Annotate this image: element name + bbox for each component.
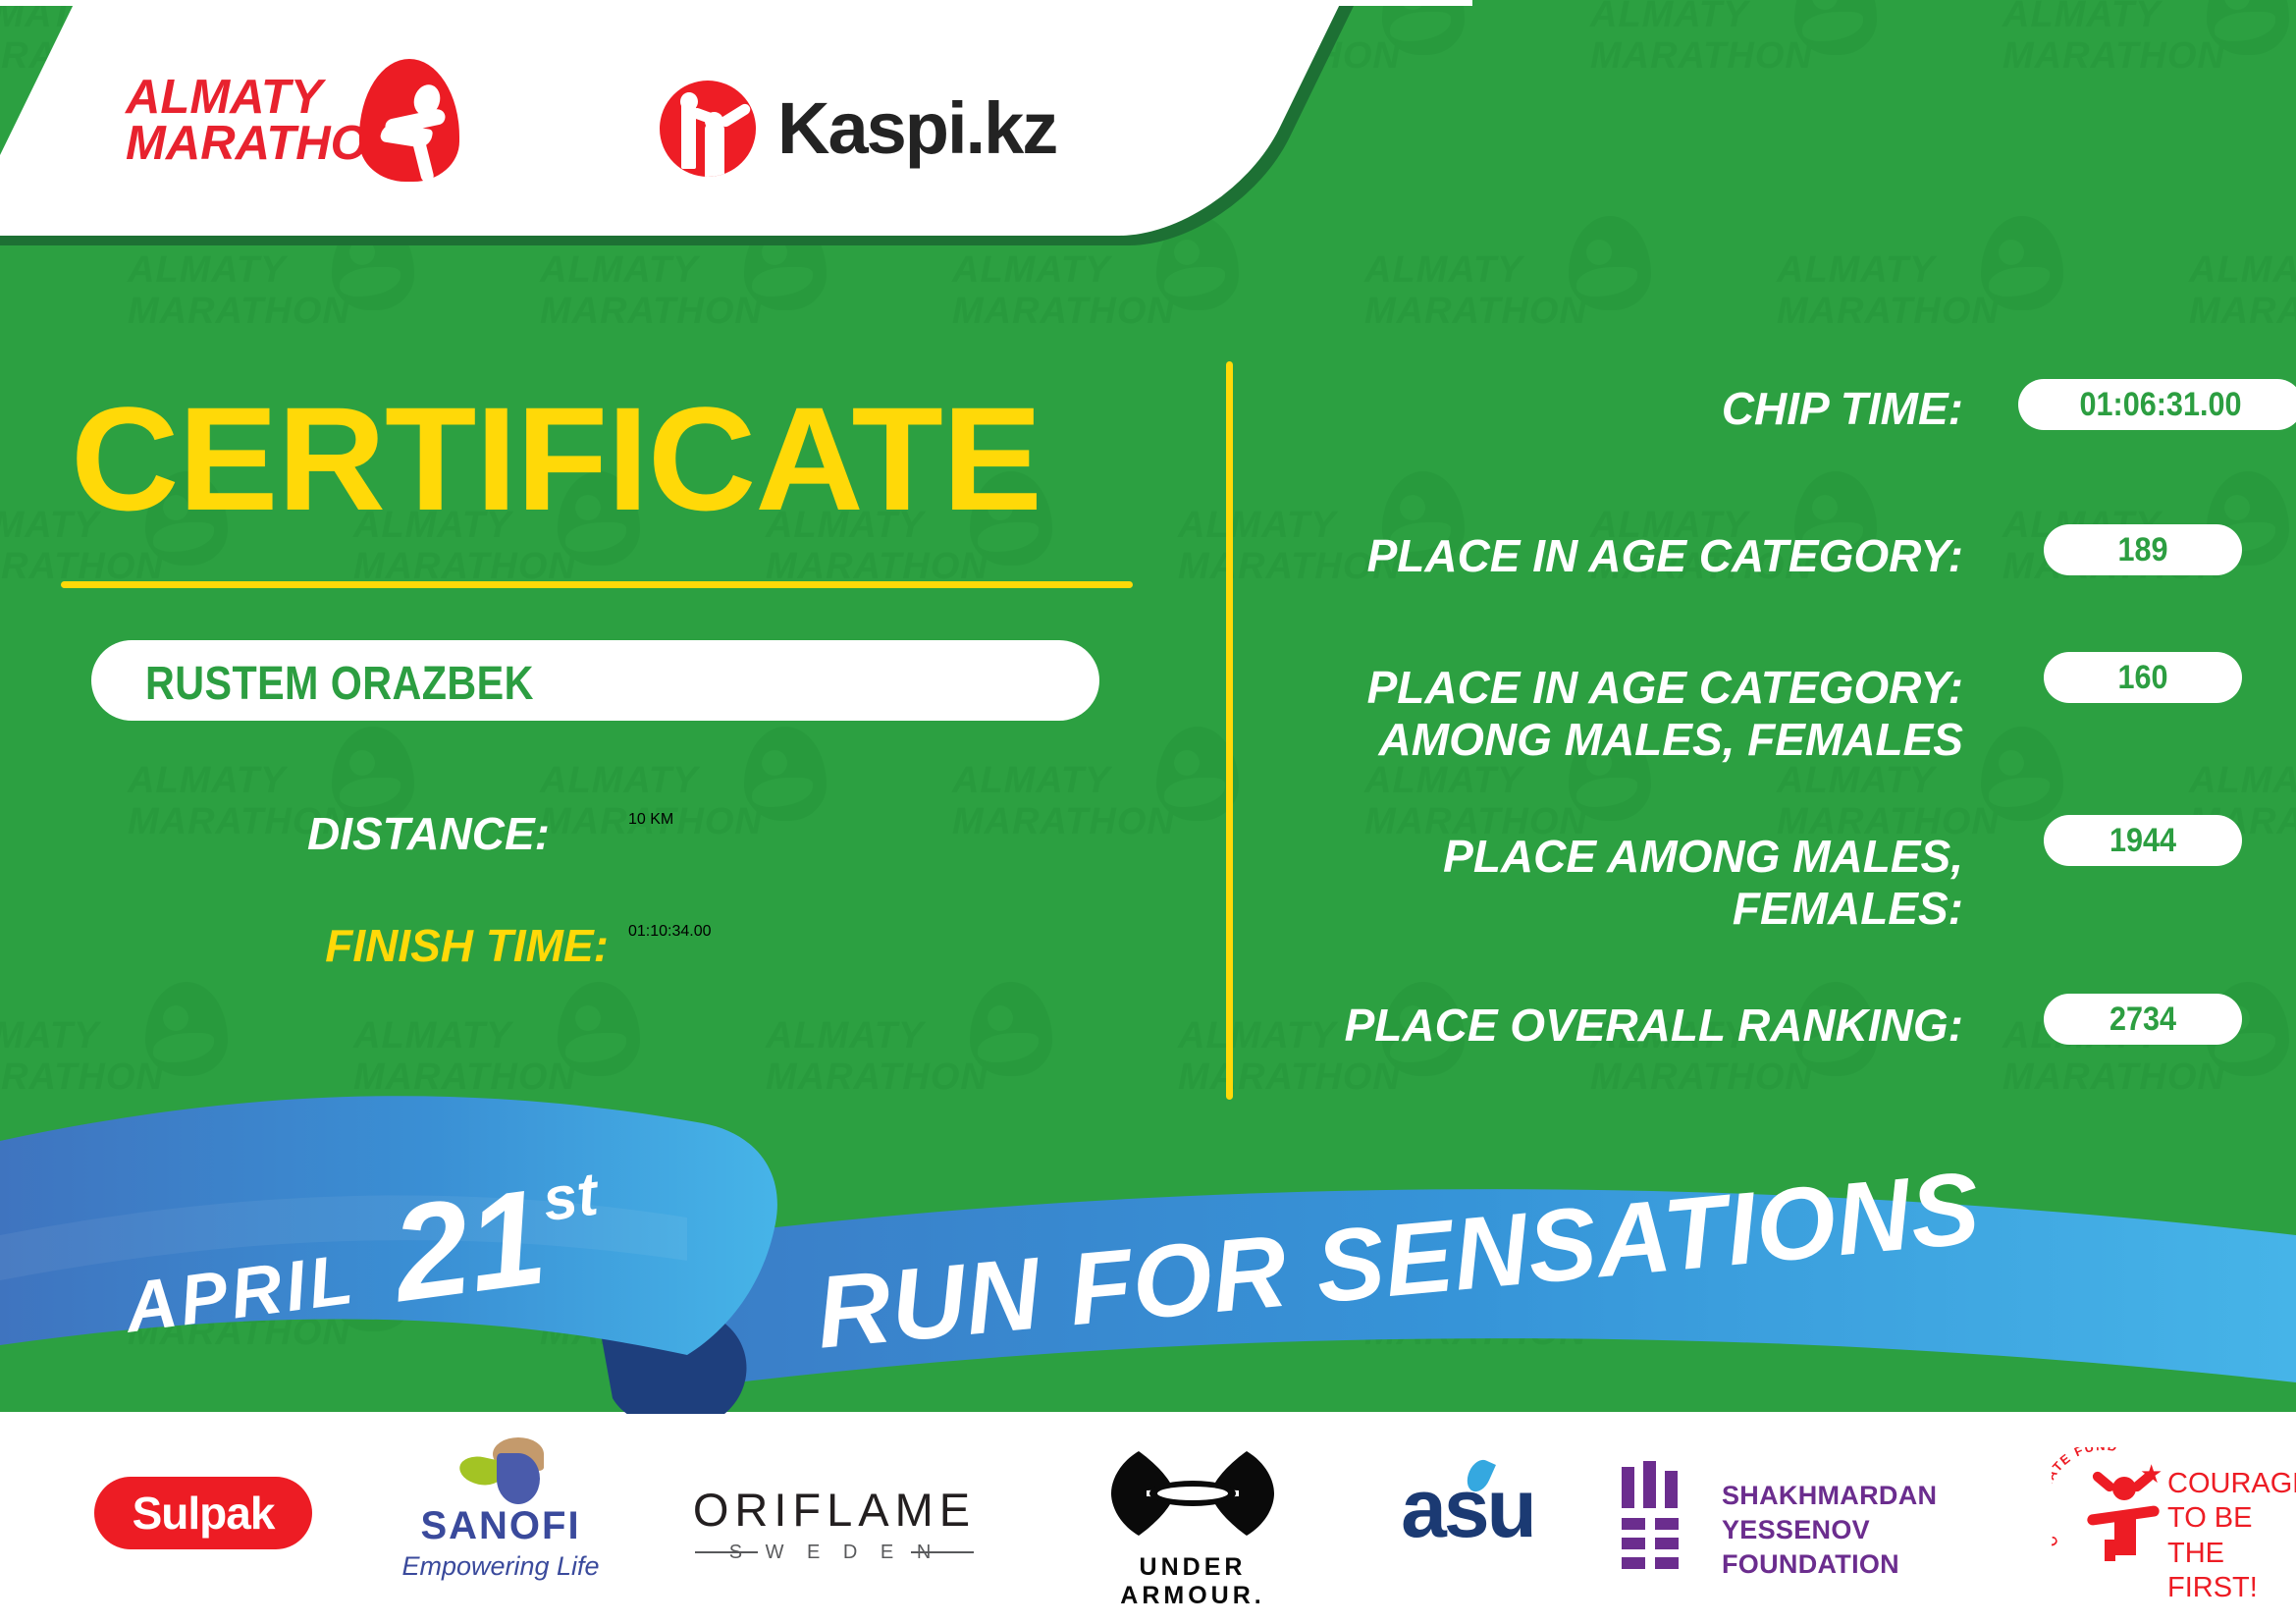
title-underline <box>61 581 1133 588</box>
stat-label: PLACE AMONG MALES,FEMALES: <box>1276 831 1963 936</box>
stat-label: PLACE OVERALL RANKING: <box>1276 1000 1963 1052</box>
sponsors-bar: Sulpak SANOFI Empowering Life ORIFLAME S… <box>0 1414 2296 1624</box>
distance-value: 10 KM <box>628 811 673 828</box>
stat-value-pill: 01:06:31.00 <box>2018 379 2296 430</box>
distance-label: DISTANCE: <box>307 807 550 860</box>
sponsor-oriflame: ORIFLAME S W E D E N <box>687 1414 982 1624</box>
stat-value: 189 <box>2054 524 2232 575</box>
finish-time-value: 01:10:34.00 <box>628 923 712 940</box>
finish-time-label: FINISH TIME: <box>325 919 609 972</box>
watermark-tile: ALMATYMARATHON <box>2189 216 2296 363</box>
stat-label: PLACE IN AGE CATEGORY:AMONG MALES, FEMAL… <box>1276 662 1963 767</box>
certificate-page: ALMATYMARATHONALMATYMARATHONALMATYMARATH… <box>0 0 2296 1624</box>
marathon-runner-drop-icon <box>359 59 459 182</box>
page-title: CERTIFICATE <box>71 385 1041 532</box>
header-content: ALMATY MARATHON Kaspi.kz <box>0 0 1276 275</box>
sanofi-bird-icon <box>454 1437 544 1498</box>
sponsor-yessenov-foundation: SHAKHMARDAN YESSENOVFOUNDATION <box>1620 1414 2032 1624</box>
distance-row: DISTANCE: <box>0 807 550 866</box>
stat-value: 1944 <box>2054 815 2232 866</box>
kaspi-wordmark: Kaspi.kz <box>777 86 1056 170</box>
almaty-marathon-line2: MARATHON <box>126 121 391 167</box>
finish-time-row: FINISH TIME: <box>0 919 609 978</box>
stat-value-pill: 189 <box>2044 524 2242 575</box>
yessenov-wordmark: SHAKHMARDAN YESSENOVFOUNDATION <box>1722 1479 2026 1582</box>
stat-value: 01:06:31.00 <box>2033 379 2289 430</box>
courage-tagline: COURAGETO BETHE FIRST! <box>2167 1467 2296 1606</box>
vertical-divider <box>1226 361 1233 1100</box>
oriflame-rule-right <box>911 1551 974 1553</box>
almaty-marathon-logo: ALMATY MARATHON <box>126 59 450 191</box>
sulpak-logo: Sulpak <box>94 1477 312 1549</box>
watermark-tile: ALMATYMARATHON <box>1364 216 1659 363</box>
almaty-marathon-wordmark: ALMATY MARATHON <box>126 75 391 166</box>
sponsor-under-armour: UNDER ARMOUR. <box>1080 1414 1306 1624</box>
stat-value-pill: 2734 <box>2044 994 2242 1045</box>
sanofi-wordmark: SANOFI <box>383 1504 618 1548</box>
watermark-tile: ALMATYMARATHON <box>2002 0 2296 108</box>
kaspi-people-circle-icon <box>660 81 756 177</box>
sponsor-asu: asu <box>1364 1414 1571 1624</box>
distance-value-pill: 10 KM <box>628 811 907 870</box>
stat-value-pill: 160 <box>2044 652 2242 703</box>
stats-panel: CHIP TIME:01:06:31.00PLACE IN AGE CATEGO… <box>1276 361 2218 1108</box>
watermark-tile: ALMATYMARATHON <box>1777 216 2071 363</box>
watermark-tile: ALMATYMARATHON <box>1590 0 1885 108</box>
kaspi-logo: Kaspi.kz <box>660 81 1072 179</box>
sanofi-tagline: Empowering Life <box>383 1551 618 1582</box>
sponsor-courage-fund: CORPORATE FUND ★ COURAGETO BETHE FIRST! <box>2057 1414 2293 1624</box>
sulpak-wordmark: Sulpak <box>94 1477 312 1549</box>
stat-value: 2734 <box>2054 994 2232 1045</box>
under-armour-wordmark: UNDER ARMOUR. <box>1080 1553 1306 1610</box>
almaty-marathon-line1: ALMATY <box>126 75 391 121</box>
stat-label: CHIP TIME: <box>1276 383 1963 435</box>
stat-value-pill: 1944 <box>2044 815 2242 866</box>
event-day-ordinal: st <box>539 1160 602 1236</box>
watermark-tile: ALMATYMARATHON <box>952 727 1247 874</box>
sponsor-sulpak: Sulpak <box>94 1414 320 1624</box>
sponsor-sanofi: SANOFI Empowering Life <box>383 1414 618 1624</box>
participant-name-field: RUSTEM ORAZBEK <box>91 640 1099 721</box>
event-day: 21 <box>384 1159 554 1333</box>
participant-name-value: RUSTEM ORAZBEK <box>145 657 534 711</box>
finish-time-value-pill: 01:10:34.00 <box>628 923 919 982</box>
yessenov-bars-icon <box>1620 1461 1706 1567</box>
stat-value: 160 <box>2054 652 2232 703</box>
oriflame-wordmark: ORIFLAME <box>687 1483 982 1537</box>
stat-label: PLACE IN AGE CATEGORY: <box>1276 530 1963 582</box>
under-armour-icon <box>1107 1449 1278 1538</box>
